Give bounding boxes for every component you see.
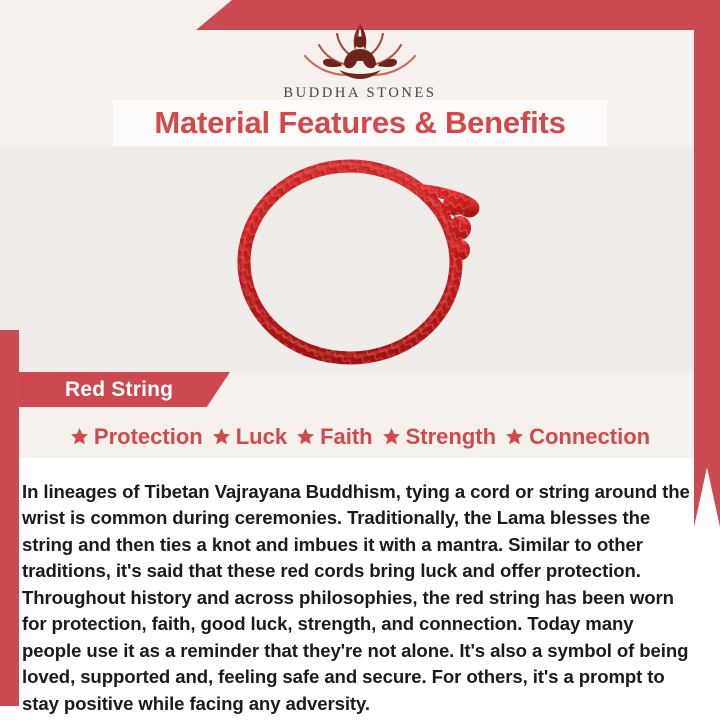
- page-title: Material Features & Benefits: [154, 105, 565, 141]
- decorative-frame-left: [0, 330, 19, 706]
- benefits-list: Protection Luck Faith Strength Connectio: [19, 418, 701, 456]
- lotus-meditation-icon: [297, 20, 423, 82]
- benefit-item-luck: Luck: [212, 424, 287, 450]
- product-label: Red String: [65, 378, 173, 402]
- benefit-item-strength: Strength: [382, 424, 496, 450]
- benefit-label: Protection: [94, 424, 203, 450]
- star-icon: [382, 427, 401, 446]
- benefit-item-connection: Connection: [505, 424, 650, 450]
- product-label-ribbon: Red String: [19, 372, 230, 407]
- infographic-page: BUDDHA STONES Material Features & Benefi…: [0, 0, 720, 720]
- star-icon: [505, 427, 524, 446]
- benefit-item-faith: Faith: [296, 424, 373, 450]
- star-icon: [212, 427, 231, 446]
- benefit-item-protection: Protection: [70, 424, 203, 450]
- benefit-label: Faith: [320, 424, 373, 450]
- benefit-label: Strength: [406, 424, 496, 450]
- page-title-banner: Material Features & Benefits: [113, 100, 607, 146]
- star-icon: [70, 427, 89, 446]
- product-image: [0, 147, 720, 372]
- brand-logo: BUDDHA STONES: [0, 20, 720, 102]
- star-icon: [296, 427, 315, 446]
- benefit-label: Luck: [236, 424, 287, 450]
- red-string-bracelet-illustration: [228, 152, 492, 367]
- benefit-label: Connection: [529, 424, 650, 450]
- description-text: In lineages of Tibetan Vajrayana Buddhis…: [22, 479, 692, 718]
